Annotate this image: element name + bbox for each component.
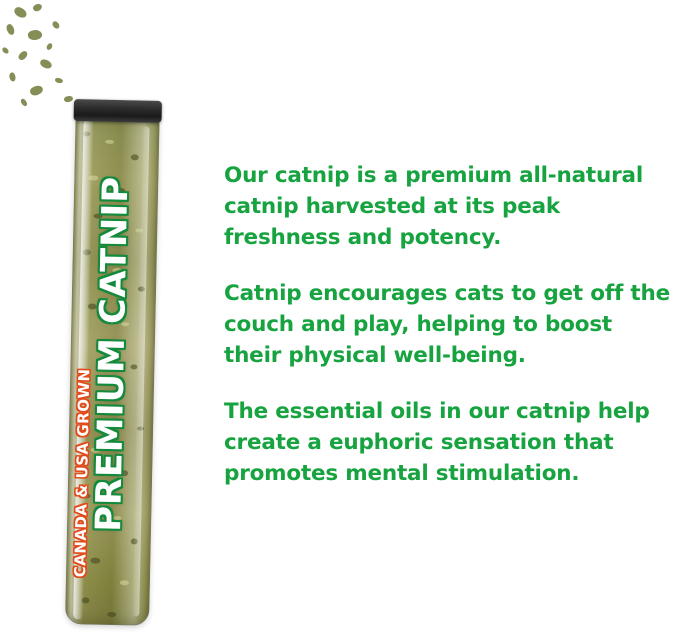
catnip-flake [17,49,28,61]
catnip-flake [13,6,29,20]
catnip-flake [29,83,45,97]
catnip-flake [32,2,43,13]
catnip-flake [63,95,74,104]
catnip-flake [5,23,16,36]
product-feature-image: PREMIUM CATNIP CANADA & USA GROWN Our ca… [0,0,679,643]
catnip-flake [8,72,17,83]
catnip-flake [55,77,64,83]
catnip-tube: PREMIUM CATNIP CANADA & USA GROWN [65,99,160,626]
catnip-flake [1,46,10,54]
catnip-flake [39,58,53,69]
tube-cap [74,99,162,123]
copy-paragraph-1: Our catnip is a premium all-natural catn… [224,160,674,253]
catnip-flake [46,42,53,50]
product-photo: PREMIUM CATNIP CANADA & USA GROWN [0,0,210,643]
marketing-copy: Our catnip is a premium all-natural catn… [224,160,674,489]
catnip-flake [27,29,43,42]
tube-contents [65,117,160,626]
copy-paragraph-3: The essential oils in our catnip help cr… [224,396,674,489]
catnip-flake [51,20,61,30]
copy-paragraph-2: Catnip encourages cats to get off the co… [224,278,674,371]
catnip-flake [20,98,29,107]
